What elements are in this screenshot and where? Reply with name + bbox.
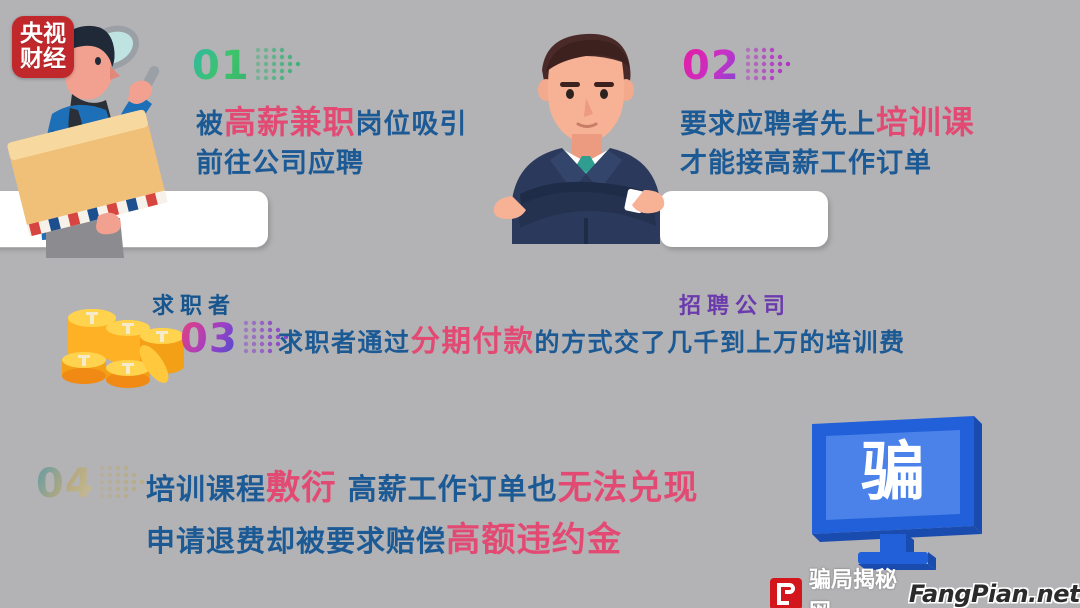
text-segment: 的方式交了几千到上万的培训费 <box>535 328 906 357</box>
cctv-finance-logo: 央视 财经 <box>12 16 74 78</box>
step-text-04-line-2: 申请退费却被要求赔偿高额违约金 <box>146 514 698 566</box>
text-segment-highlight: 无法兑现 <box>558 468 699 508</box>
step-text-02-line-1: 要求应聘者先上培训课 <box>680 100 975 145</box>
step-text-04: 培训课程敷衍 高薪工作订单也无法兑现 申请退费却被要求赔偿高额违约金 <box>146 462 698 566</box>
chevron-dots-icon-01 <box>252 44 308 88</box>
text-segment: 才能接高薪工作订单 <box>680 148 932 179</box>
step-number-04: 04 <box>36 464 94 504</box>
step-marker-02: 02 <box>682 44 798 88</box>
monitor-illustration: 骗 <box>796 414 996 579</box>
text-segment: 前往公司应聘 <box>196 148 364 179</box>
company-label: 招聘公司 <box>679 288 791 320</box>
text-segment: 岗位吸引 <box>355 109 467 140</box>
monitor-glyph: 骗 <box>861 436 925 510</box>
text-segment: 培训课程 <box>146 472 266 506</box>
text-segment: 要求应聘者先上 <box>680 109 876 140</box>
text-segment-highlight: 培训课 <box>876 103 975 141</box>
coins-illustration <box>56 294 190 395</box>
site-watermark: 骗局揭秘网 FangPian.net <box>770 562 1080 608</box>
text-segment: 求职者通过 <box>278 328 411 357</box>
step-text-02-line-2: 才能接高薪工作订单 <box>680 145 975 183</box>
cctv-logo-line-2: 财经 <box>20 48 66 71</box>
recruiter-illustration <box>486 18 686 249</box>
step-text-01: 被高薪兼职岗位吸引 前往公司应聘 <box>196 100 467 184</box>
infographic-canvas: 求职者 招聘公司 01 被高薪兼职岗位吸引 前往公司应聘 02 <box>0 0 1080 608</box>
text-segment: 高薪工作订单也 <box>336 472 557 506</box>
step-marker-04: 04 <box>36 462 152 506</box>
step-number-02: 02 <box>682 46 740 86</box>
step-text-03-line-1: 求职者通过分期付款的方式交了几千到上万的培训费 <box>278 322 906 360</box>
text-segment: 被 <box>196 109 224 140</box>
step-number-03: 03 <box>180 319 238 359</box>
cctv-logo-line-1: 央视 <box>20 23 66 46</box>
fangpian-logo-icon <box>770 578 802 608</box>
step-text-02: 要求应聘者先上培训课 才能接高薪工作订单 <box>680 100 975 184</box>
chevron-dots-icon-04 <box>96 462 152 506</box>
chevron-dots-icon-02 <box>742 44 798 88</box>
watermark-chinese: 骗局揭秘网 <box>809 562 902 608</box>
watermark-english: FangPian.net <box>909 580 1080 608</box>
step-text-03: 求职者通过分期付款的方式交了几千到上万的培训费 <box>278 322 906 360</box>
text-segment: 申请退费却被要求赔偿 <box>146 524 446 558</box>
step-text-04-line-1: 培训课程敷衍 高薪工作订单也无法兑现 <box>146 462 698 514</box>
step-number-01: 01 <box>192 46 250 86</box>
step-text-01-line-2: 前往公司应聘 <box>196 145 467 183</box>
text-segment-highlight: 分期付款 <box>411 324 535 358</box>
step-text-01-line-1: 被高薪兼职岗位吸引 <box>196 100 467 145</box>
text-segment-highlight: 敷衍 <box>266 468 336 508</box>
step-marker-01: 01 <box>192 44 308 88</box>
text-segment-highlight: 高额违约金 <box>446 520 622 560</box>
text-segment-highlight: 高薪兼职 <box>224 103 355 141</box>
